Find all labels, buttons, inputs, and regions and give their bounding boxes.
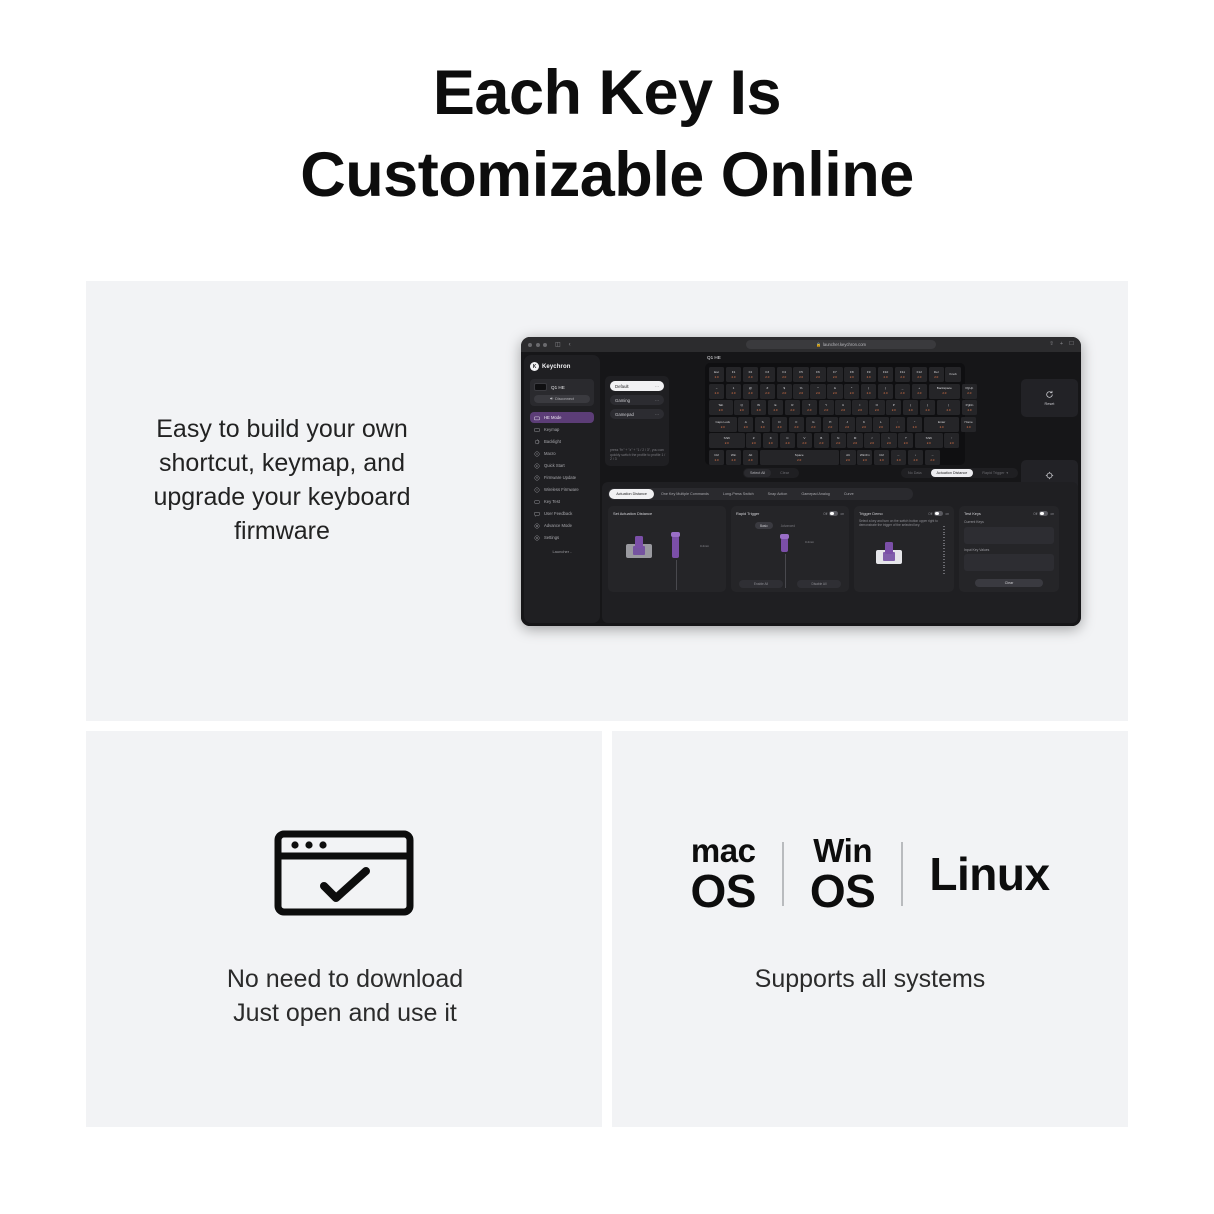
toggle-knob bbox=[1040, 512, 1044, 516]
key-a[interactable]: A2.0 bbox=[738, 417, 753, 432]
launcher-app-screenshot: ◫ ‹ 🔒 launcher.keychron.com ⇧ + ☐ K Keyc… bbox=[521, 337, 1081, 626]
sidebar-item-he-mode[interactable]: HE Mode bbox=[530, 412, 594, 423]
key-test-icon bbox=[534, 499, 540, 505]
switch-3d-illustration bbox=[876, 550, 902, 564]
sidebar-item-advance-mode[interactable]: Advance Mode bbox=[530, 520, 594, 531]
disconnect-button[interactable]: ⎆ Disconnect bbox=[534, 395, 590, 403]
key-enter[interactable]: Enter2.0 bbox=[924, 417, 960, 432]
divider bbox=[782, 842, 784, 906]
key-actuation-value: 2.0 bbox=[715, 376, 719, 379]
key-actuation-value: 2.0 bbox=[799, 376, 803, 379]
panel-test-keys: Test Keys Off on Current Keys Input Key … bbox=[959, 506, 1059, 592]
key-label: T bbox=[808, 404, 810, 407]
key-label: F8 bbox=[850, 371, 854, 374]
rapid-trigger-dropdown[interactable]: Rapid Trigger ▾ bbox=[976, 469, 1014, 477]
key-label: F10 bbox=[883, 371, 888, 374]
key-alt[interactable]: Alt2.0 bbox=[743, 450, 758, 465]
test-keys-toggle[interactable]: Off on bbox=[1033, 511, 1054, 516]
windows-logo-bottom: OS bbox=[810, 868, 875, 914]
key-label: | bbox=[948, 404, 949, 407]
key-actuation-value: 2.0 bbox=[797, 459, 801, 462]
toggle-track[interactable] bbox=[1039, 511, 1048, 516]
enable-all-button[interactable]: Enable All bbox=[739, 580, 783, 588]
chevron-left-icon[interactable]: ‹ bbox=[569, 342, 571, 348]
key-label: F5 bbox=[799, 371, 803, 374]
sidebar-item-settings[interactable]: Settings bbox=[530, 532, 594, 543]
minimize-icon[interactable] bbox=[536, 343, 540, 347]
key-label: ? bbox=[905, 437, 907, 440]
key-actuation-value: 2.0 bbox=[968, 409, 972, 412]
key-f6[interactable]: F62.0 bbox=[810, 367, 825, 382]
key-actuation-value: 2.0 bbox=[867, 376, 871, 379]
key-label: PgUp bbox=[965, 387, 973, 390]
key-actuation-value: 2.0 bbox=[782, 392, 786, 395]
device-name: Q1 HE bbox=[551, 385, 565, 390]
key-actuation-value: 2.0 bbox=[884, 376, 888, 379]
key-y[interactable]: Y2.0 bbox=[819, 400, 834, 415]
selection-toolbar: Select All Clear No Data Actuation Dista… bbox=[705, 468, 1077, 478]
key-actuation-value: 2.0 bbox=[765, 376, 769, 379]
key-label: + bbox=[918, 387, 920, 390]
key-actuation-value: 2.0 bbox=[967, 426, 971, 429]
key-label: Enter bbox=[938, 421, 945, 424]
toggle-track[interactable] bbox=[829, 511, 838, 516]
key-actuation-value: 2.0 bbox=[778, 426, 782, 429]
macro-icon bbox=[534, 451, 540, 457]
sidebar-item-label: Keymap bbox=[544, 427, 559, 432]
key-actuation-value: 2.0 bbox=[769, 442, 773, 445]
keyboard-row: Tab2.0Q2.0W2.0E2.0R2.0T2.0Y2.0U2.0I2.0O2… bbox=[709, 400, 961, 415]
close-icon[interactable] bbox=[528, 343, 532, 347]
sidebar-item-backlight[interactable]: Backlight bbox=[530, 436, 594, 447]
settings-panel: Actuation DistanceOne Key Multiple Comma… bbox=[602, 482, 1078, 623]
key-f[interactable]: F2.0 bbox=[789, 417, 804, 432]
key-k[interactable]: K2.0 bbox=[856, 417, 871, 432]
key-p[interactable]: P2.0 bbox=[886, 400, 901, 415]
profile-item-default[interactable]: Default ⋯ bbox=[610, 381, 664, 391]
app-body: K Keychron Q1 HE ⎆ Disconnect bbox=[521, 352, 1081, 626]
mode-advanced-button[interactable]: Advanced bbox=[776, 522, 800, 529]
sidebar-item-wireless-firmware[interactable]: Wireless Firmware bbox=[530, 484, 594, 495]
key-v[interactable]: V2.0 bbox=[797, 433, 812, 448]
key-actuation-value: 2.0 bbox=[824, 409, 828, 412]
key--[interactable]: )2.0 bbox=[878, 384, 893, 399]
key-x[interactable]: X2.0 bbox=[763, 433, 778, 448]
key-f3[interactable]: F32.0 bbox=[760, 367, 775, 382]
key-actuation-value: 2.0 bbox=[841, 409, 845, 412]
key--[interactable]: %2.0 bbox=[793, 384, 808, 399]
key-home[interactable]: Home2.0 bbox=[961, 417, 976, 432]
key-label: Tab bbox=[718, 404, 723, 407]
feature-card-no-download bbox=[86, 731, 602, 1127]
key-label: F6 bbox=[816, 371, 820, 374]
clear-button[interactable]: Clear bbox=[975, 579, 1043, 588]
sidebar-item-firmware-update[interactable]: Firmware Update bbox=[530, 472, 594, 483]
tab-long-press-switch[interactable]: Long-Press Switch bbox=[716, 489, 761, 499]
gear-icon bbox=[534, 535, 540, 541]
sidebar-nav: HE Mode Keymap Backlight Macro bbox=[530, 412, 594, 543]
key-f2[interactable]: F22.0 bbox=[743, 367, 758, 382]
key-u[interactable]: U2.0 bbox=[835, 400, 850, 415]
key-g[interactable]: G2.0 bbox=[806, 417, 821, 432]
key-o[interactable]: O2.0 bbox=[869, 400, 884, 415]
key--[interactable]: >2.0 bbox=[881, 433, 896, 448]
macos-logo: mac OS bbox=[690, 834, 755, 914]
key--[interactable]: _2.0 bbox=[895, 384, 910, 399]
key-l[interactable]: L2.0 bbox=[873, 417, 888, 432]
key-tab[interactable]: Tab2.0 bbox=[709, 400, 733, 415]
trigger-demo-toggle[interactable]: Off on bbox=[928, 511, 949, 516]
key-j[interactable]: J2.0 bbox=[839, 417, 854, 432]
key--[interactable]: ↑2.0 bbox=[944, 433, 959, 448]
selection-group-right: No Data Actuation Distance Rapid Trigger… bbox=[901, 468, 1018, 478]
key-actuation-value: 2.0 bbox=[819, 442, 823, 445]
key--[interactable]: ?2.0 bbox=[898, 433, 913, 448]
toggle-off-label: Off bbox=[823, 512, 827, 516]
key-label: $ bbox=[783, 387, 785, 390]
key-r[interactable]: R2.0 bbox=[785, 400, 800, 415]
key--[interactable]: :2.0 bbox=[890, 417, 905, 432]
key-label: Alt bbox=[846, 454, 850, 457]
windows-logo-top: Win bbox=[813, 834, 872, 868]
reset-label: Reset bbox=[1045, 402, 1055, 406]
key-actuation-value: 2.0 bbox=[757, 409, 761, 412]
key-actuation-value: 2.0 bbox=[833, 392, 837, 395]
key-label: ↑ bbox=[951, 437, 953, 440]
browser-check-icon bbox=[274, 830, 414, 916]
key-actuation-value: 2.0 bbox=[917, 392, 921, 395]
key-ctrl[interactable]: Ctrl2.0 bbox=[709, 450, 724, 465]
key-f8[interactable]: F82.0 bbox=[844, 367, 859, 382]
key-caps-lock[interactable]: Caps Lock2.0 bbox=[709, 417, 737, 432]
key-w[interactable]: W2.0 bbox=[751, 400, 766, 415]
key-win-fn[interactable]: Win/Fn2.0 bbox=[857, 450, 872, 465]
key-f9[interactable]: F92.0 bbox=[861, 367, 876, 382]
key-actuation-value: 2.0 bbox=[715, 459, 719, 462]
tab-gamepad-analog[interactable]: Gamepad Analog bbox=[794, 489, 837, 499]
key-e[interactable]: E2.0 bbox=[768, 400, 783, 415]
switch-3d-illustration bbox=[626, 544, 652, 558]
brand-name: Keychron bbox=[542, 364, 570, 370]
keyboard-row: Shift2.0Z2.0X2.0C2.0V2.0B2.0N2.0M2.0<2.0… bbox=[709, 433, 961, 448]
key-label: V bbox=[803, 437, 805, 440]
sidebar-item-keymap[interactable]: Keymap bbox=[530, 424, 594, 435]
panel-rapid-trigger: Rapid Trigger Off on Basic Advanced bbox=[731, 506, 849, 592]
toggle-track[interactable] bbox=[934, 511, 943, 516]
key-pgdn[interactable]: PgDn2.0 bbox=[962, 400, 977, 415]
key-actuation-value: 2.0 bbox=[816, 392, 820, 395]
key-actuation-value: 2.0 bbox=[942, 392, 946, 395]
key-1[interactable]: 12.0 bbox=[726, 384, 741, 399]
key-actuation-value: 2.0 bbox=[900, 376, 904, 379]
key-actuation-value: 2.0 bbox=[930, 459, 934, 462]
key-label: G bbox=[812, 421, 814, 424]
plus-icon[interactable]: + bbox=[1060, 341, 1063, 347]
key--[interactable]: →2.0 bbox=[925, 450, 940, 465]
key-label: F9 bbox=[867, 371, 871, 374]
key--[interactable]: #2.0 bbox=[760, 384, 775, 399]
sidebar-item-key-test[interactable]: Key Test bbox=[530, 496, 594, 507]
key-actuation-value: 2.0 bbox=[732, 376, 736, 379]
key-backspace[interactable]: Backspace2.0 bbox=[929, 384, 961, 399]
keyboard-row: Ctrl2.0Win2.0Alt2.0Space2.0Alt2.0Win/Fn2… bbox=[709, 450, 961, 465]
key-z[interactable]: Z2.0 bbox=[746, 433, 761, 448]
key-c[interactable]: C2.0 bbox=[780, 433, 795, 448]
keyboard-row: Caps Lock2.0A2.0S2.0D2.0F2.0G2.0H2.0J2.0… bbox=[709, 417, 961, 432]
key-actuation-value: 2.0 bbox=[950, 442, 954, 445]
key-label: B bbox=[820, 437, 822, 440]
key-actuation-value: 2.0 bbox=[862, 426, 866, 429]
backlight-icon bbox=[534, 439, 540, 445]
key-label: W bbox=[757, 404, 760, 407]
window-controls[interactable] bbox=[528, 343, 547, 347]
key--[interactable]: ~2.0 bbox=[709, 384, 724, 399]
key-s[interactable]: S2.0 bbox=[755, 417, 770, 432]
key-label: F11 bbox=[900, 371, 905, 374]
key--[interactable]: {2.0 bbox=[903, 400, 918, 415]
key--[interactable]: ←2.0 bbox=[891, 450, 906, 465]
key-actuation-value: 2.0 bbox=[732, 459, 736, 462]
key-f4[interactable]: F42.0 bbox=[777, 367, 792, 382]
key-label: N bbox=[837, 437, 839, 440]
key-space[interactable]: Space2.0 bbox=[760, 450, 839, 465]
key-actuation-value: 2.0 bbox=[833, 376, 837, 379]
sidebar-item-quick-start[interactable]: Quick Start bbox=[530, 460, 594, 471]
toggle-on-label: on bbox=[1050, 512, 1054, 516]
key--[interactable]: @2.0 bbox=[743, 384, 758, 399]
key-actuation-value: 2.0 bbox=[786, 442, 790, 445]
key-label: % bbox=[800, 387, 803, 390]
sidebar-item-label: Wireless Firmware bbox=[544, 487, 579, 492]
actuation-distance-button[interactable]: Actuation Distance bbox=[931, 469, 974, 477]
key-m[interactable]: M2.0 bbox=[847, 433, 862, 448]
key--[interactable]: ↓2.0 bbox=[908, 450, 923, 465]
key-actuation-value: 2.0 bbox=[752, 442, 756, 445]
sidebar-item-macro[interactable]: Macro bbox=[530, 448, 594, 459]
key-label: F12 bbox=[917, 371, 922, 374]
disconnect-label: Disconnect bbox=[555, 397, 574, 401]
key-actuation-value: 2.0 bbox=[845, 426, 849, 429]
key--[interactable]: &2.0 bbox=[827, 384, 842, 399]
key-q[interactable]: Q2.0 bbox=[734, 400, 749, 415]
linux-logo-text: Linux bbox=[929, 851, 1049, 897]
key-actuation-value: 2.0 bbox=[850, 392, 854, 395]
key-actuation-value: 2.0 bbox=[892, 409, 896, 412]
key--[interactable]: }2.0 bbox=[920, 400, 935, 415]
chevron-down-icon[interactable]: ⋯ bbox=[655, 412, 659, 417]
sidebar-item-user-feedback[interactable]: User Feedback bbox=[530, 508, 594, 519]
linux-logo: Linux bbox=[929, 851, 1049, 897]
key--[interactable]: *2.0 bbox=[844, 384, 859, 399]
key-label: C bbox=[786, 437, 788, 440]
settings-tabs: Actuation DistanceOne Key Multiple Comma… bbox=[608, 488, 913, 500]
key-f7[interactable]: F72.0 bbox=[827, 367, 842, 382]
toggle-off-label: Off bbox=[928, 512, 932, 516]
profile-label: Gaming bbox=[615, 398, 630, 403]
key-d[interactable]: D2.0 bbox=[772, 417, 787, 432]
disable-all-button[interactable]: Disable All bbox=[797, 580, 841, 588]
chevron-down-icon: ▾ bbox=[1006, 471, 1008, 475]
key-label: U bbox=[842, 404, 844, 407]
profile-item-gamepad[interactable]: Gamepad ⋯ bbox=[610, 409, 664, 419]
sidebar-icon[interactable]: ◫ bbox=[555, 342, 561, 348]
key-label: PgDn bbox=[966, 404, 974, 407]
key-alt[interactable]: Alt2.0 bbox=[840, 450, 855, 465]
headline-line-1: Each Key Is bbox=[433, 58, 781, 128]
chevron-down-icon[interactable]: ⋯ bbox=[655, 398, 659, 403]
rapid-trigger-toggle[interactable]: Off on bbox=[823, 511, 844, 516]
key-actuation-value: 2.0 bbox=[853, 442, 857, 445]
key-label: Del bbox=[934, 371, 939, 374]
key-pgup[interactable]: PgUp2.0 bbox=[962, 384, 977, 399]
tabs-icon[interactable]: ☐ bbox=[1069, 341, 1074, 347]
key-n[interactable]: N2.0 bbox=[831, 433, 846, 448]
key-label: ~ bbox=[716, 387, 718, 390]
lock-icon: 🔒 bbox=[816, 342, 821, 347]
maximize-icon[interactable] bbox=[543, 343, 547, 347]
mode-basic-button[interactable]: Basic bbox=[755, 522, 773, 529]
no-data-button[interactable]: No Data bbox=[902, 469, 928, 477]
key-label: ) bbox=[885, 387, 886, 390]
key--[interactable]: "2.0 bbox=[907, 417, 922, 432]
key-actuation-value: 2.0 bbox=[748, 376, 752, 379]
key-label: ( bbox=[868, 387, 869, 390]
key--[interactable]: $2.0 bbox=[777, 384, 792, 399]
key-ctrl[interactable]: Ctrl2.0 bbox=[874, 450, 889, 465]
key-label: E bbox=[774, 404, 776, 407]
key-label: Caps Lock bbox=[715, 421, 730, 424]
key-f10[interactable]: F102.0 bbox=[878, 367, 893, 382]
key-h[interactable]: H2.0 bbox=[823, 417, 838, 432]
key-f5[interactable]: F52.0 bbox=[793, 367, 808, 382]
profile-item-gaming[interactable]: Gaming ⋯ bbox=[610, 395, 664, 405]
key-label: _ bbox=[902, 387, 904, 390]
macos-logo-bottom: OS bbox=[690, 868, 755, 914]
key-label: F1 bbox=[732, 371, 736, 374]
device-row: Q1 HE bbox=[534, 383, 590, 391]
clear-selection-button[interactable]: Clear bbox=[774, 469, 795, 477]
advance-mode-icon bbox=[534, 523, 540, 529]
key-knob[interactable]: Knob bbox=[945, 367, 960, 382]
sidebar-item-label: HE Mode bbox=[544, 415, 561, 420]
key-del[interactable]: Del2.0 bbox=[929, 367, 944, 382]
key-label: F4 bbox=[782, 371, 786, 374]
key-t[interactable]: T2.0 bbox=[802, 400, 817, 415]
key-actuation-value: 2.0 bbox=[774, 409, 778, 412]
key-actuation-value: 2.0 bbox=[880, 459, 884, 462]
address-bar[interactable]: 🔒 launcher.keychron.com bbox=[746, 340, 936, 349]
key-label: " bbox=[914, 421, 915, 424]
profile-label: Gamepad bbox=[615, 412, 634, 417]
key-label: F bbox=[795, 421, 797, 424]
key-label: F7 bbox=[833, 371, 837, 374]
key-actuation-value: 2.0 bbox=[816, 376, 820, 379]
key--[interactable]: |2.0 bbox=[937, 400, 961, 415]
browser-chrome: ◫ ‹ 🔒 launcher.keychron.com ⇧ + ☐ bbox=[521, 337, 1081, 352]
key-actuation-value: 2.0 bbox=[850, 376, 854, 379]
input-key-values-field[interactable] bbox=[964, 554, 1054, 571]
key-label: R bbox=[791, 404, 793, 407]
key-label: F3 bbox=[766, 371, 770, 374]
keyboard-map[interactable]: Esc2.0F12.0F22.0F32.0F42.0F52.0F62.0F72.… bbox=[705, 363, 965, 465]
key-label: Shift bbox=[724, 437, 730, 440]
browser-toolbar-right: ⇧ + ☐ bbox=[1049, 341, 1074, 347]
key-label: Home bbox=[965, 421, 973, 424]
reset-button[interactable]: Reset bbox=[1021, 379, 1078, 417]
key-actuation-value: 2.0 bbox=[870, 442, 874, 445]
key-label: ^ bbox=[817, 387, 818, 390]
key-label: ← bbox=[897, 454, 900, 457]
keyboard-row: Esc2.0F12.0F22.0F32.0F42.0F52.0F62.0F72.… bbox=[709, 367, 961, 382]
key-actuation-value: 2.0 bbox=[719, 409, 723, 412]
feature-blurb: Easy to build your own shortcut, keymap,… bbox=[110, 412, 454, 548]
key-f11[interactable]: F112.0 bbox=[895, 367, 910, 382]
tab-curve[interactable]: Curve bbox=[837, 489, 861, 499]
key-label: ↓ bbox=[915, 454, 917, 457]
key--[interactable]: +2.0 bbox=[912, 384, 927, 399]
tab-one-key-multiple-commands[interactable]: One Key Multiple Commands bbox=[654, 489, 716, 499]
key-actuation-value: 2.0 bbox=[858, 409, 862, 412]
select-all-button[interactable]: Select All bbox=[744, 469, 771, 477]
profile-hint: press "fn" + "z" + "1 / 2 / 3", you can … bbox=[610, 448, 666, 462]
key-label: K bbox=[863, 421, 865, 424]
keyboard-thumbnail-icon bbox=[534, 383, 547, 391]
key-actuation-value: 2.0 bbox=[879, 426, 883, 429]
key-label: P bbox=[893, 404, 895, 407]
key-shift[interactable]: Shift2.0 bbox=[915, 433, 943, 448]
key-actuation-value: 2.0 bbox=[799, 392, 803, 395]
key-esc[interactable]: Esc2.0 bbox=[709, 367, 724, 382]
toggle-knob bbox=[830, 512, 834, 516]
chevron-down-icon[interactable]: ⋯ bbox=[655, 384, 659, 389]
quick-start-icon bbox=[534, 463, 540, 469]
key-actuation-value: 2.0 bbox=[725, 442, 729, 445]
key-i[interactable]: I2.0 bbox=[852, 400, 867, 415]
key-label: D bbox=[778, 421, 780, 424]
key-actuation-value: 2.0 bbox=[732, 392, 736, 395]
tab-actuation-distance[interactable]: Actuation Distance bbox=[609, 489, 654, 499]
key-label: Backspace bbox=[937, 387, 952, 390]
key-actuation-value: 2.0 bbox=[897, 459, 901, 462]
key-shift[interactable]: Shift2.0 bbox=[709, 433, 745, 448]
key--[interactable]: ^2.0 bbox=[810, 384, 825, 399]
current-keys-field[interactable] bbox=[964, 527, 1054, 544]
panel-trigger-demo: Trigger Demo Off on Select a key and tur… bbox=[854, 506, 954, 592]
share-icon[interactable]: ⇧ bbox=[1049, 341, 1054, 347]
os-logo-group: mac OS Win OS Linux bbox=[612, 826, 1128, 922]
sidebar-footer: Launcher - bbox=[530, 549, 594, 554]
key--[interactable]: (2.0 bbox=[861, 384, 876, 399]
key-label: Knob bbox=[950, 373, 957, 376]
feature-card-os-support bbox=[612, 731, 1128, 1127]
key-actuation-value: 2.0 bbox=[867, 392, 871, 395]
key-actuation-value: 2.0 bbox=[721, 426, 725, 429]
key-f12[interactable]: F122.0 bbox=[912, 367, 927, 382]
address-bar-url: launcher.keychron.com bbox=[823, 342, 866, 347]
key-label: Ctrl bbox=[714, 454, 719, 457]
tab-snap-action[interactable]: Snap Action bbox=[761, 489, 795, 499]
key--[interactable]: <2.0 bbox=[864, 433, 879, 448]
key-label: * bbox=[851, 387, 852, 390]
toggle-knob bbox=[935, 512, 939, 516]
key-win[interactable]: Win2.0 bbox=[726, 450, 741, 465]
wireless-firmware-icon bbox=[534, 487, 540, 493]
key-b[interactable]: B2.0 bbox=[814, 433, 829, 448]
rapid-trigger-mode-group: Basic Advanced bbox=[755, 522, 800, 529]
key-label: Q bbox=[741, 404, 743, 407]
caption-no-download: No need to downloadJust open and use it bbox=[120, 962, 570, 1030]
key-f1[interactable]: F12.0 bbox=[726, 367, 741, 382]
